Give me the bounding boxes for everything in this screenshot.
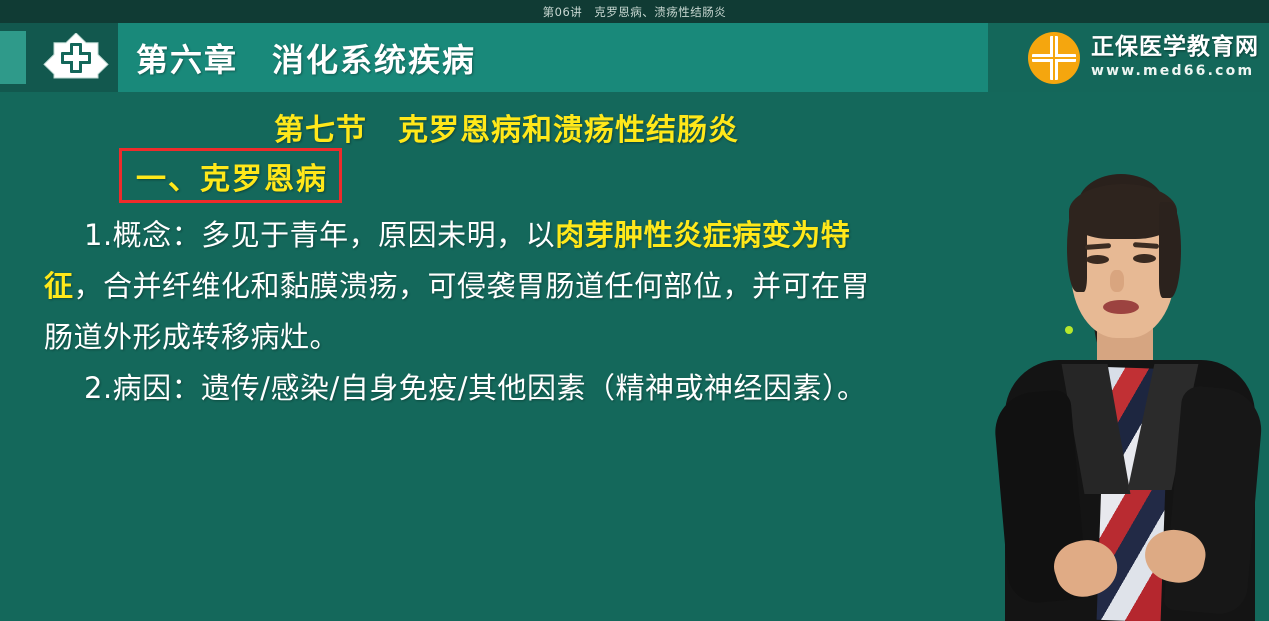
orange-cross-badge-icon xyxy=(1026,30,1082,86)
window-titlebar: 第06讲 克罗恩病、溃疡性结肠炎 xyxy=(0,0,1269,23)
slide-header-banner: 第六章 消化系统疾病 正保医学教育网 www.med66.com xyxy=(0,23,1269,92)
presenter-eye-left xyxy=(1086,255,1109,264)
brand-name: 正保医学教育网 xyxy=(1091,35,1259,60)
presenter-eye-right xyxy=(1133,254,1156,263)
paragraph-etiology: 2.病因：遗传/感染/自身免疫/其他因素（精神或神经因素）。 xyxy=(44,363,884,414)
lecture-slide-screen: 第06讲 克罗恩病、溃疡性结肠炎 第六章 消化系统疾病 xyxy=(0,0,1269,621)
subsection-heading: 一、克罗恩病 xyxy=(136,154,328,198)
paragraph-segment-plain: 遗传/感染/自身免疫/其他因素（精神或神经因素）。 xyxy=(201,371,866,405)
chapter-title: 第六章 消化系统疾病 xyxy=(136,23,476,92)
presenter-nose xyxy=(1110,270,1124,292)
paragraph-number: 2.病因： xyxy=(84,371,201,405)
presenter-lapel-mic-light xyxy=(1065,326,1073,334)
paragraph-number: 1.概念： xyxy=(84,218,201,252)
presenter-mouth xyxy=(1103,300,1139,314)
section-title: 第七节 克罗恩病和溃疡性结肠炎 xyxy=(274,105,739,149)
brand-logo: 正保医学教育网 www.med66.com xyxy=(1026,23,1259,92)
brand-url: www.med66.com xyxy=(1091,62,1259,80)
paragraph-segment-tail: ，合并纤维化和黏膜溃疡，可侵袭胃肠道任何部位，并可在胃肠道外形成转移病灶。 xyxy=(44,269,870,354)
presenter-hair-left xyxy=(1067,204,1087,292)
presenter-hair-right xyxy=(1159,202,1181,298)
header-accent-bar xyxy=(0,31,26,84)
presenter-video-overlay xyxy=(905,92,1269,621)
medical-cross-logo-icon xyxy=(40,33,112,83)
paragraph-segment-plain: 多见于青年，原因未明，以 xyxy=(201,218,555,252)
brand-text-block: 正保医学教育网 www.med66.com xyxy=(1091,35,1259,80)
titlebar-text: 第06讲 克罗恩病、溃疡性结肠炎 xyxy=(543,4,727,20)
paragraph-concept: 1.概念：多见于青年，原因未明，以肉芽肿性炎症病变为特征，合并纤维化和黏膜溃疡，… xyxy=(44,210,884,363)
